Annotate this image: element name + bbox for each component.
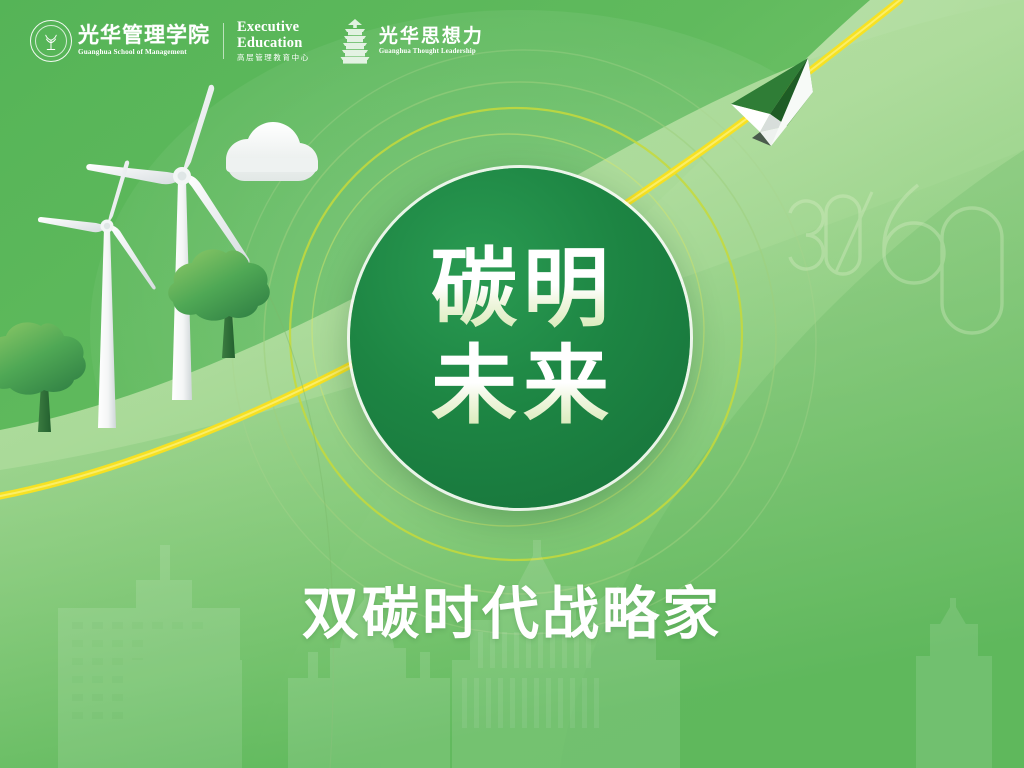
- brand-logo-bar: 光华管理学院 Guanghua School of Management Exe…: [30, 18, 484, 64]
- exec-edu-line2: Education: [237, 36, 310, 51]
- guanghua-en-name: Guanghua School of Management: [78, 49, 210, 56]
- central-badge: 碳明 未来: [350, 168, 690, 508]
- exec-edu-cn-name: 高层管理教育中心: [237, 54, 310, 62]
- thought-leadership-en-name: Guanghua Thought Leadership: [379, 49, 484, 56]
- presentation-slide: 光华管理学院 Guanghua School of Management Exe…: [0, 0, 1024, 768]
- guanghua-cn-name: 光华管理学院: [78, 25, 210, 46]
- guanghua-logo: 光华管理学院 Guanghua School of Management: [30, 20, 210, 62]
- slide-headline: 双碳时代战略家: [0, 586, 1024, 643]
- badge-line-1: 碳明: [425, 244, 615, 335]
- badge-line-2: 未来: [425, 341, 615, 432]
- thought-leadership-cn-name: 光华思想力: [379, 27, 484, 46]
- thought-leadership-logo: 光华思想力 Guanghua Thought Leadership: [338, 18, 484, 64]
- seal-glyph-icon: [42, 33, 60, 51]
- executive-education-logo: Executive Education 高层管理教育中心: [237, 20, 310, 61]
- peking-university-seal-icon: [30, 20, 72, 62]
- logo-divider: [223, 23, 224, 59]
- boya-pagoda-icon: [338, 18, 372, 64]
- exec-edu-line1: Executive: [237, 20, 310, 35]
